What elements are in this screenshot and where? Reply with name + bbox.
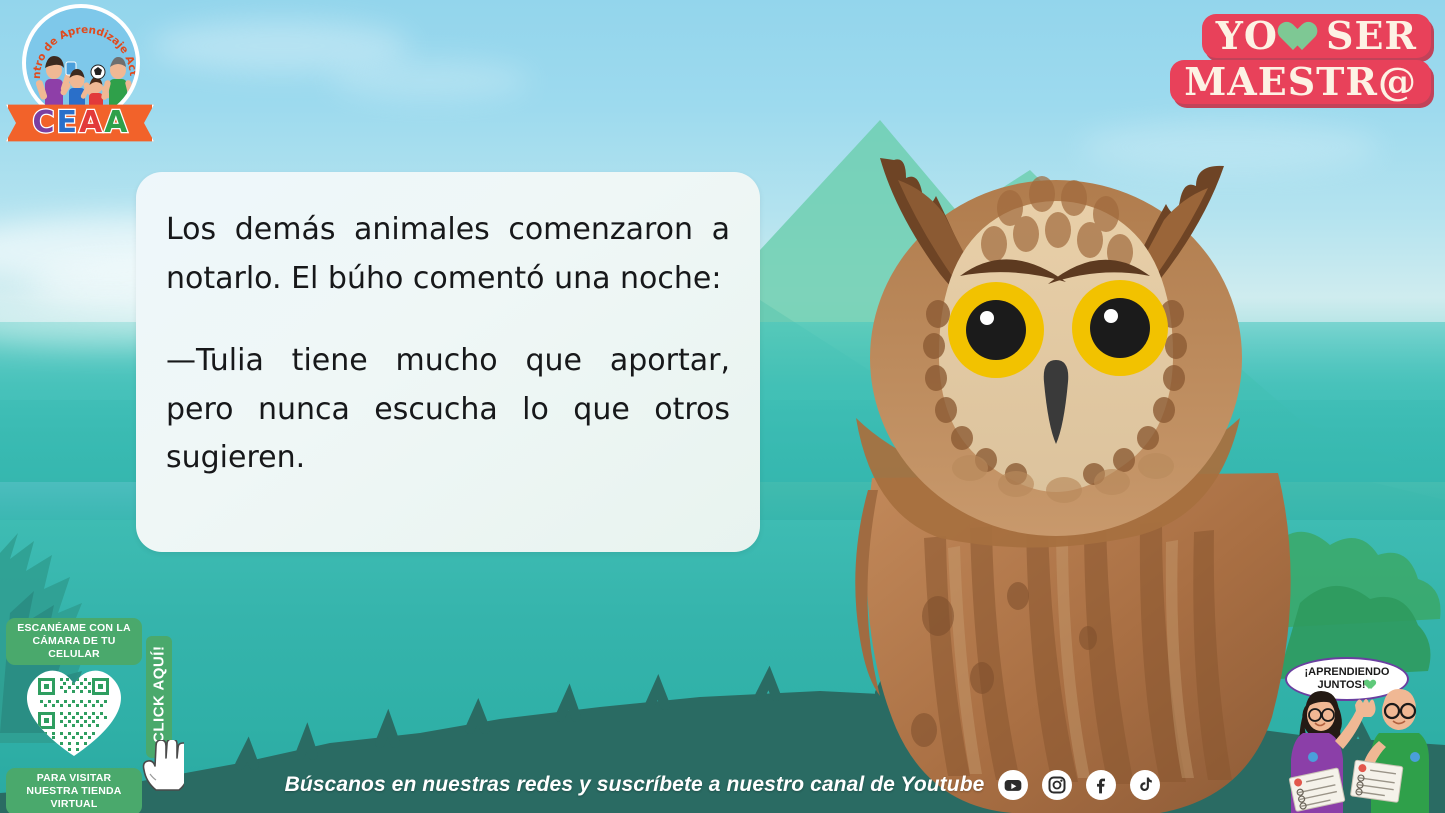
heart-icon — [1285, 21, 1319, 51]
slide-canvas: Centro de Aprendizaje Activo — [0, 0, 1445, 813]
story-text-card: Los demás animales comenzaron a notarlo.… — [136, 172, 760, 552]
ceaa-logo-circle: Centro de Aprendizaje Activo — [22, 4, 140, 122]
ceaa-letter-c: C — [33, 108, 55, 138]
tiktok-icon[interactable] — [1130, 770, 1160, 800]
ceaa-ribbon: C E A A — [6, 100, 154, 146]
footer-bar: Búscanos en nuestras redes y suscríbete … — [0, 757, 1445, 813]
ceaa-letter-a1: A — [79, 108, 102, 138]
maestro-maestro-label: MAESTR@ — [1184, 63, 1417, 101]
maestro-line-1: YO SER — [1202, 14, 1431, 58]
maestro-ser-label: SER — [1326, 17, 1417, 55]
footer-text: Búscanos en nuestras redes y suscríbete … — [285, 773, 985, 797]
instagram-icon[interactable] — [1042, 770, 1072, 800]
story-paragraph-2: —Tulia tiene mucho que aportar, pero nun… — [166, 337, 730, 483]
story-paragraph-1: Los demás animales comenzaron a notarlo.… — [166, 206, 730, 303]
click-here-label: ¡CLICK AQUÍ! — [151, 646, 168, 749]
maestro-yo-label: YO — [1216, 17, 1278, 55]
ceaa-logo[interactable]: Centro de Aprendizaje Activo — [6, 4, 154, 144]
yo-amo-ser-maestro-logo[interactable]: YO SER MAESTR@ — [1170, 14, 1431, 104]
ceaa-letter-e: E — [57, 108, 78, 138]
owl-illustration — [820, 118, 1320, 813]
heart-qr-code[interactable] — [18, 656, 130, 761]
ceaa-letter-a2: A — [104, 108, 127, 138]
maestro-line-2: MAESTR@ — [1170, 60, 1431, 104]
facebook-icon[interactable] — [1086, 770, 1116, 800]
youtube-icon[interactable] — [998, 770, 1028, 800]
